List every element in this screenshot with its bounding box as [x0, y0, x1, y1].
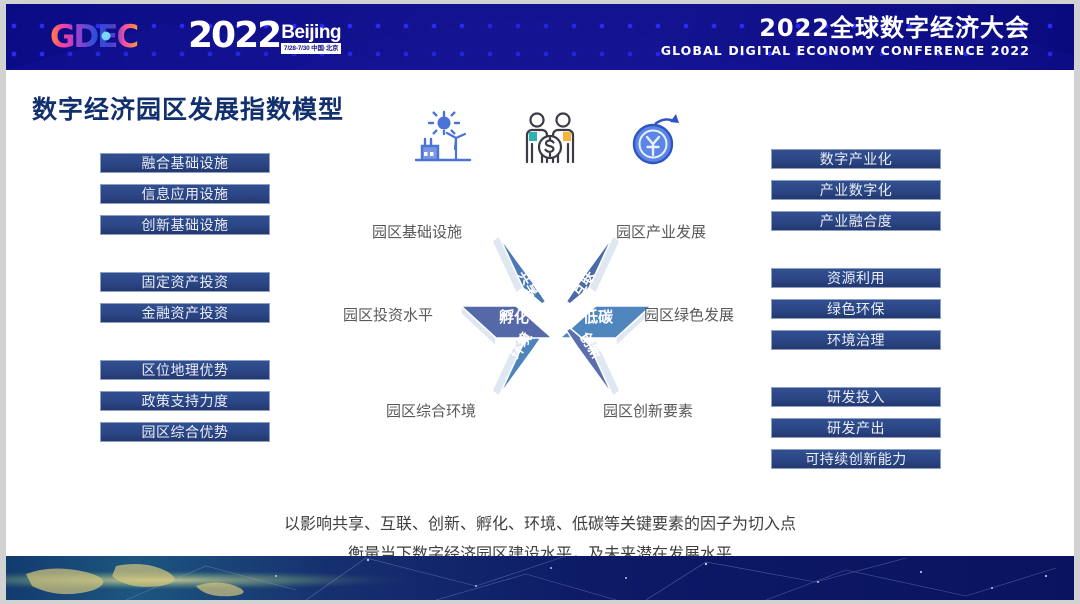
indicator-bar[interactable]: 政策支持力度 — [100, 391, 270, 411]
star-outer-label-left: 园区投资水平 — [343, 304, 433, 325]
group-spacer — [100, 334, 270, 360]
year-number: 2022 — [188, 18, 280, 54]
city-name: Beijing — [281, 23, 341, 42]
star-outer-label-right: 园区绿色发展 — [644, 304, 734, 325]
left-group-2: 固定资产投资 金融资产投资 — [100, 272, 270, 334]
indicator-bar[interactable]: 产业融合度 — [771, 211, 941, 231]
gdec-logo-icon: GDEC — [50, 16, 166, 56]
indicator-bar[interactable]: 资源利用 — [771, 268, 941, 288]
indicator-bar[interactable]: 区位地理优势 — [100, 360, 270, 380]
right-group-3: 研发投入 研发产出 可持续创新能力 — [771, 387, 941, 480]
petal-label-lowcarbon: 低碳 — [582, 308, 614, 326]
six-petal-star-diagram: 共享 互联 低碳 创新 环境 孵化 — [461, 232, 651, 400]
header-logo-group: GDEC 2022 Beijing 7/28-7/30 中国·北京 — [50, 16, 341, 56]
indicator-bar[interactable]: 可持续创新能力 — [771, 449, 941, 469]
right-group-2: 资源利用 绿色环保 环境治理 — [771, 268, 941, 361]
year-city-lockup: 2022 Beijing 7/28-7/30 中国·北京 — [188, 18, 341, 54]
star-outer-label-bottom-left: 园区综合环境 — [386, 400, 476, 421]
indicator-bar[interactable]: 研发产出 — [771, 418, 941, 438]
group-spacer — [771, 361, 941, 387]
conference-title-cn: 2022全球数字经济大会 — [661, 14, 1030, 42]
presentation-slide: GDEC 2022 Beijing 7/28-7/30 中国·北京 2022全球… — [0, 0, 1080, 604]
city-date: 7/28-7/30 中国·北京 — [281, 43, 341, 54]
star-outer-label-top-right: 园区产业发展 — [616, 221, 706, 242]
svg-text:GDEC: GDEC — [50, 19, 137, 55]
slide-canvas: GDEC 2022 Beijing 7/28-7/30 中国·北京 2022全球… — [6, 4, 1074, 600]
right-indicator-column: 数字产业化 产业数字化 产业融合度 资源利用 绿色环保 环境治理 研发投入 研发… — [771, 149, 941, 480]
left-group-3: 区位地理优势 政策支持力度 园区综合优势 — [100, 360, 270, 453]
page-title: 数字经济园区发展指数模型 — [32, 90, 344, 126]
yuan-coin-growth-icon — [624, 110, 688, 170]
indicator-bar[interactable]: 数字产业化 — [771, 149, 941, 169]
right-group-1: 数字产业化 产业数字化 产业融合度 — [771, 149, 941, 242]
gdec-logo: GDEC — [50, 16, 166, 56]
group-spacer — [100, 246, 270, 272]
indicator-bar[interactable]: 创新基础设施 — [100, 215, 270, 235]
indicator-bar[interactable]: 园区综合优势 — [100, 422, 270, 442]
indicator-bar[interactable]: 环境治理 — [771, 330, 941, 350]
header-conference-title: 2022全球数字经济大会 GLOBAL DIGITAL ECONOMY CONF… — [661, 14, 1030, 59]
top-icon-row — [412, 108, 672, 170]
left-indicator-column: 融合基础设施 信息应用设施 创新基础设施 固定资产投资 金融资产投资 区位地理优… — [100, 153, 270, 453]
petal-label-incubation: 孵化 — [499, 308, 529, 326]
people-dollar-icon — [518, 110, 582, 170]
indicator-bar[interactable]: 融合基础设施 — [100, 153, 270, 173]
indicator-bar[interactable]: 产业数字化 — [771, 180, 941, 200]
summary-line-1: 以影响共享、互联、创新、孵化、环境、低碳等关键要素的因子为切入点 — [6, 509, 1074, 539]
star-outer-label-bottom-right: 园区创新要素 — [603, 400, 693, 421]
bottom-globe-network-band — [6, 556, 1074, 600]
group-spacer — [771, 242, 941, 268]
indicator-bar[interactable]: 绿色环保 — [771, 299, 941, 319]
star-outer-label-top-left: 园区基础设施 — [372, 221, 462, 242]
indicator-bar[interactable]: 信息应用设施 — [100, 184, 270, 204]
indicator-bar[interactable]: 研发投入 — [771, 387, 941, 407]
indicator-bar[interactable]: 金融资产投资 — [100, 303, 270, 323]
factory-solar-wind-icon — [412, 110, 476, 170]
indicator-bar[interactable]: 固定资产投资 — [100, 272, 270, 292]
conference-title-en: GLOBAL DIGITAL ECONOMY CONFERENCE 2022 — [661, 43, 1030, 59]
conference-header-banner: GDEC 2022 Beijing 7/28-7/30 中国·北京 2022全球… — [6, 4, 1074, 70]
left-group-1: 融合基础设施 信息应用设施 创新基础设施 — [100, 153, 270, 246]
